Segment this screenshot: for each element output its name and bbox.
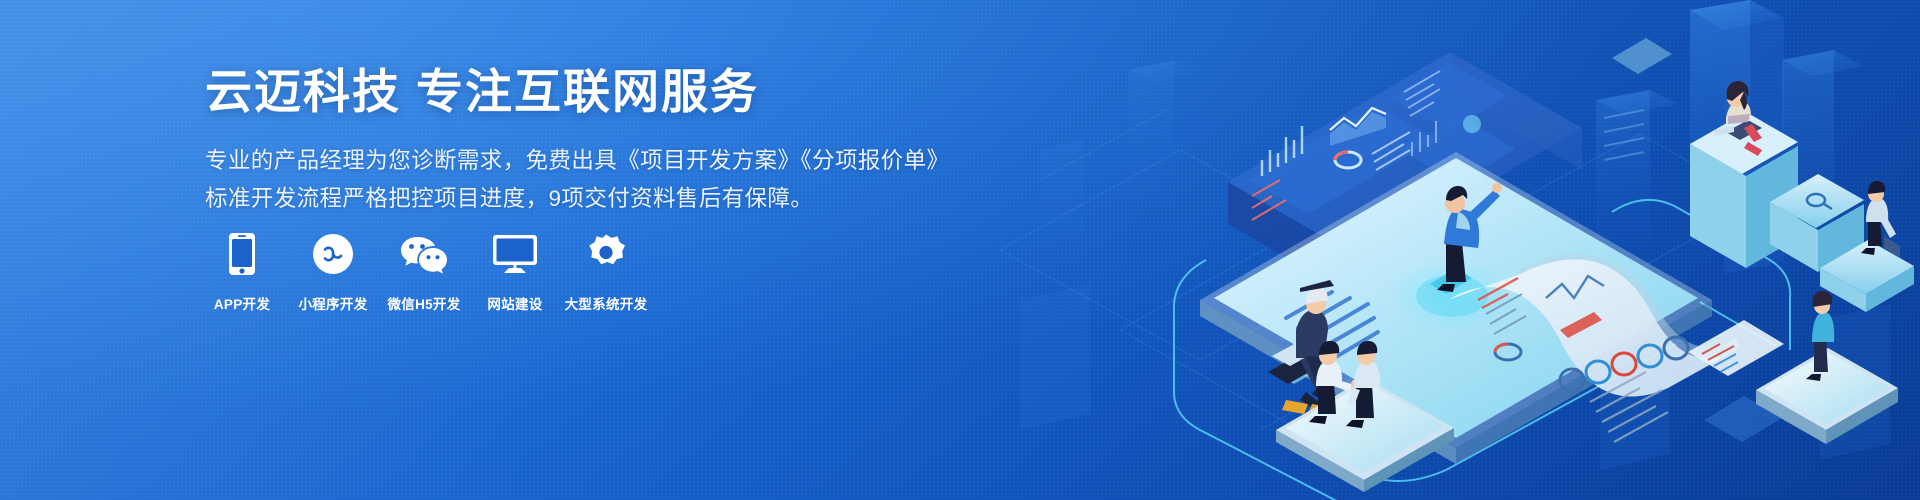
service-label: 微信H5开发 bbox=[387, 293, 460, 313]
subtitle-line-2: 标准开发流程严格把控项目进度，9项交付资料售后有保障。 bbox=[205, 180, 965, 218]
service-label: 网站建设 bbox=[487, 293, 542, 313]
service-item-large-system[interactable]: 大型系统开发 bbox=[569, 232, 643, 313]
service-item-app[interactable]: APP开发 bbox=[205, 232, 279, 313]
service-icon-row: APP开发 小程序开发 微信 bbox=[205, 232, 660, 313]
wechat-icon bbox=[399, 232, 449, 276]
service-label: 小程序开发 bbox=[299, 293, 368, 313]
service-label: 大型系统开发 bbox=[565, 293, 648, 313]
banner-copy: 云迈科技 专注互联网服务 专业的产品经理为您诊断需求，免费出具《项目开发方案》《… bbox=[205, 62, 965, 218]
service-item-wechat-h5[interactable]: 微信H5开发 bbox=[387, 232, 461, 313]
service-item-website[interactable]: 网站建设 bbox=[478, 232, 552, 313]
mini-program-icon bbox=[312, 232, 354, 276]
monitor-icon bbox=[492, 232, 538, 276]
page-title: 云迈科技 专注互联网服务 bbox=[205, 62, 965, 122]
promo-banner: 云迈科技 专注互联网服务 专业的产品经理为您诊断需求，免费出具《项目开发方案》《… bbox=[0, 0, 1920, 500]
smartphone-icon bbox=[227, 232, 257, 276]
isometric-illustration bbox=[1000, 0, 1920, 500]
service-item-mini-program[interactable]: 小程序开发 bbox=[296, 232, 370, 313]
gear-icon bbox=[585, 232, 627, 276]
service-label: APP开发 bbox=[214, 293, 270, 313]
subtitle-line-1: 专业的产品经理为您诊断需求，免费出具《项目开发方案》《分项报价单》 bbox=[205, 142, 965, 180]
